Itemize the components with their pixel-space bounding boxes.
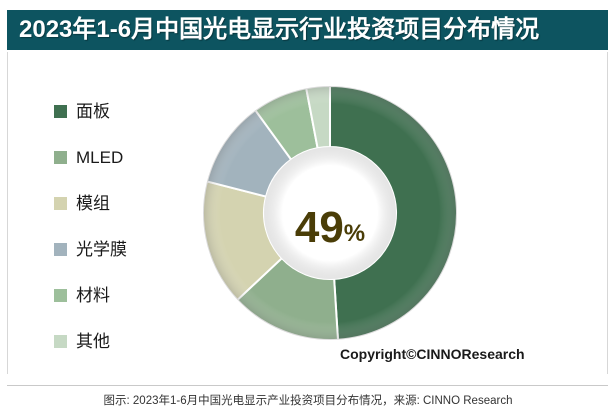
legend-item-optical-film[interactable]: 光学膜 bbox=[54, 226, 184, 272]
legend-swatch-module bbox=[54, 197, 67, 210]
donut-hole bbox=[264, 147, 396, 279]
legend-label-material: 材料 bbox=[76, 287, 110, 304]
legend-swatch-mled bbox=[54, 151, 67, 164]
legend-swatch-other bbox=[54, 335, 67, 348]
donut-svg bbox=[203, 66, 457, 360]
legend-label-other: 其他 bbox=[76, 333, 110, 350]
legend-item-material[interactable]: 材料 bbox=[54, 272, 184, 318]
figure-caption: 图示: 2023年1-6月中国光电显示产业投资项目分布情况，来源: CINNO … bbox=[0, 392, 616, 408]
legend-item-panel[interactable]: 面板 bbox=[54, 88, 184, 134]
donut-chart bbox=[203, 66, 457, 360]
legend-label-optical-film: 光学膜 bbox=[76, 241, 127, 258]
chart-legend: 面板 MLED 模组 光学膜 材料 其他 bbox=[54, 88, 184, 364]
legend-label-panel: 面板 bbox=[76, 103, 110, 120]
legend-item-module[interactable]: 模组 bbox=[54, 180, 184, 226]
legend-swatch-optical-film bbox=[54, 243, 67, 256]
legend-item-other[interactable]: 其他 bbox=[54, 318, 184, 364]
chart-title-bar: 2023年1-6月中国光电显示行业投资项目分布情况 bbox=[7, 10, 608, 50]
legend-swatch-panel bbox=[54, 105, 67, 118]
legend-label-mled: MLED bbox=[76, 149, 123, 166]
chart-figure: 2023年1-6月中国光电显示行业投资项目分布情况 面板 MLED 模组 光学膜… bbox=[0, 0, 616, 418]
caption-divider bbox=[7, 385, 608, 386]
legend-label-module: 模组 bbox=[76, 195, 110, 212]
legend-item-mled[interactable]: MLED bbox=[54, 134, 184, 180]
copyright-watermark: Copyright©CINNOResearch bbox=[340, 346, 525, 362]
page-title: 2023年1-6月中国光电显示行业投资项目分布情况 bbox=[19, 10, 539, 50]
legend-swatch-material bbox=[54, 289, 67, 302]
